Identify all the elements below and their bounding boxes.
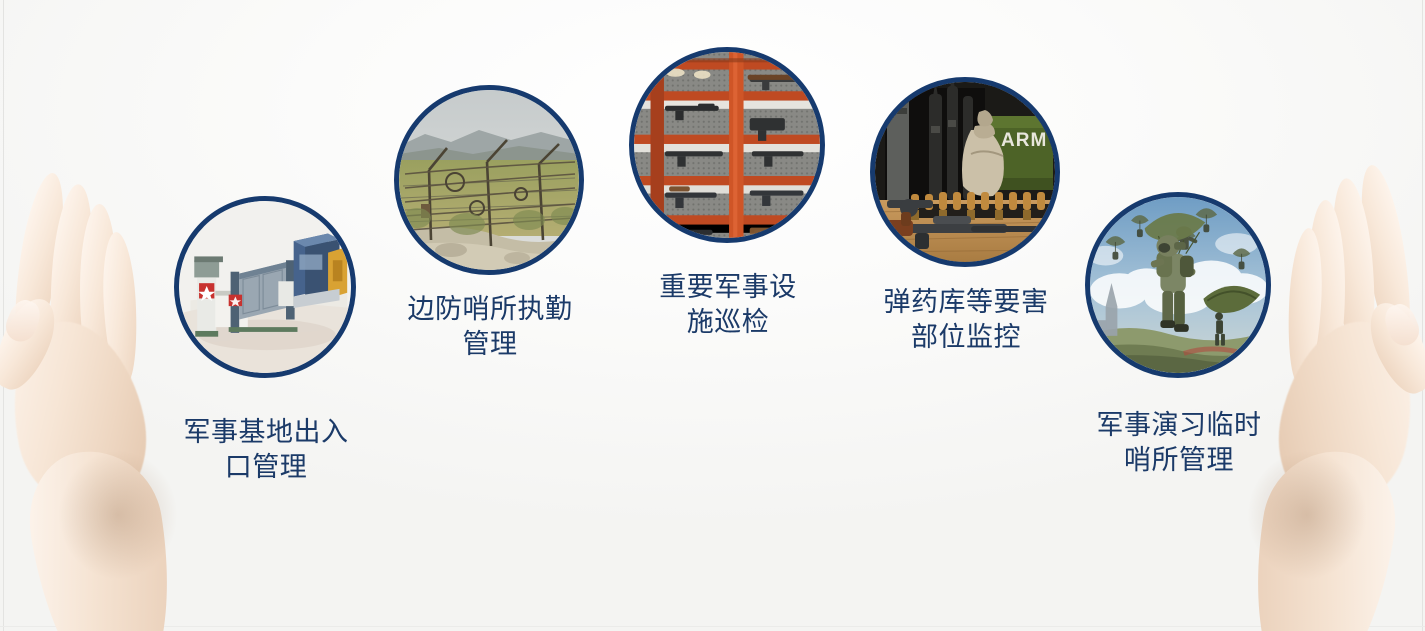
left-hand-finger-ring (79, 204, 118, 373)
caption-military-base-entrance: 军事基地出入 口管理 (155, 415, 377, 485)
left-hand-thumb (0, 291, 66, 397)
left-hand-finger-middle (44, 183, 97, 362)
svg-text:ARM: ARM (1001, 130, 1047, 151)
slide-canvas: 军事基地出入 口管理 (0, 0, 1425, 631)
left-hand-thumbnail (1, 296, 45, 346)
right-hand-finger-middle (1327, 177, 1381, 360)
photo-armory-rack (634, 52, 820, 238)
slide-edge-line-right (1422, 0, 1423, 631)
photo-circle-military-base-entrance[interactable] (174, 196, 356, 378)
right-hand-thumbnail (1380, 300, 1424, 350)
right-hand-finger-little (1285, 227, 1325, 384)
right-hand-thumb (1359, 295, 1425, 401)
photo-military-base-gate (179, 201, 351, 373)
photo-circle-border-post-duty[interactable] (394, 85, 584, 275)
left-hand-illustration (0, 150, 220, 631)
slide-edge-line-left (3, 0, 4, 631)
photo-paratroopers-exercise (1090, 197, 1266, 373)
left-hand-finger-index (6, 170, 72, 354)
photo-border-fence (399, 90, 579, 270)
left-hand-finger-little (100, 231, 140, 384)
slide-edge-line-bottom (0, 626, 1425, 627)
photo-circle-exercise-temp-post[interactable] (1085, 192, 1271, 378)
right-hand-finger-ring (1308, 200, 1347, 371)
photo-circle-ammo-depot-monitoring[interactable]: ARM (870, 77, 1060, 267)
left-hand-palm (0, 309, 160, 521)
caption-ammo-depot-monitoring: 弹药库等要害 部位监控 (855, 285, 1077, 355)
photo-ammunition-cache: ARM (875, 82, 1055, 262)
caption-key-facility-patrol: 重要军事设 施巡检 (617, 270, 839, 340)
caption-border-post-duty: 边防哨所执勤 管理 (379, 292, 601, 362)
caption-exercise-temp-post: 军事演习临时 哨所管理 (1068, 408, 1290, 478)
photo-circle-key-facility-patrol[interactable] (629, 47, 825, 243)
right-hand-finger-index (1353, 162, 1420, 352)
